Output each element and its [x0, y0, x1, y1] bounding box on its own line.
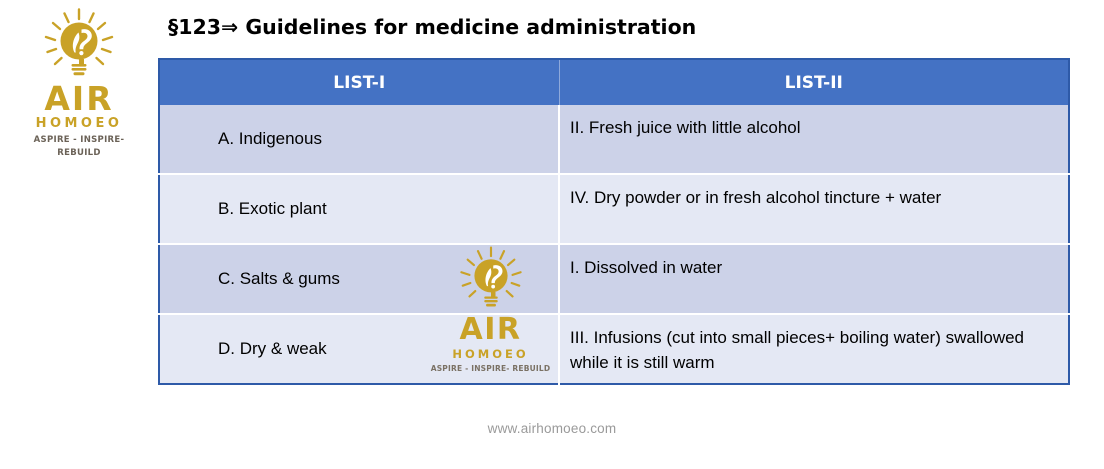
lightbulb-idea-icon [14, 8, 144, 85]
table-header-row: LIST-I LIST-II [159, 59, 1069, 105]
list-1-item-d: D. Dry & weak [159, 314, 559, 384]
list-1-item-b: B. Exotic plant [159, 174, 559, 244]
table-row: C. Salts & gums I. Dissolved in water [159, 244, 1069, 314]
list-2-item-iii: III. Infusions (cut into small pieces+ b… [559, 314, 1069, 384]
match-the-following-table: LIST-I LIST-II A. Indigenous II. Fresh j… [158, 58, 1070, 385]
column-header-list-2: LIST-II [559, 59, 1069, 105]
table-row: D. Dry & weak III. Infusions (cut into s… [159, 314, 1069, 384]
list-1-item-a: A. Indigenous [159, 105, 559, 174]
column-header-list-1: LIST-I [159, 59, 559, 105]
page-title: §123⇒ Guidelines for medicine administra… [168, 15, 696, 39]
brand-logo: AIR HOMOEO ASPIRE - INSPIRE- REBUILD [14, 8, 144, 138]
brand-name-secondary: HOMOEO [14, 114, 144, 134]
list-2-item-i: I. Dissolved in water [559, 244, 1069, 314]
brand-name-primary: AIR [14, 83, 144, 114]
table-row: B. Exotic plant IV. Dry powder or in fre… [159, 174, 1069, 244]
list-1-item-c: C. Salts & gums [159, 244, 559, 314]
list-2-item-ii: II. Fresh juice with little alcohol [559, 105, 1069, 174]
list-2-item-iv: IV. Dry powder or in fresh alcohol tinct… [559, 174, 1069, 244]
footer-website: www.airhomoeo.com [0, 421, 1104, 436]
brand-tagline: ASPIRE - INSPIRE- REBUILD [14, 134, 144, 160]
table-row: A. Indigenous II. Fresh juice with littl… [159, 105, 1069, 174]
